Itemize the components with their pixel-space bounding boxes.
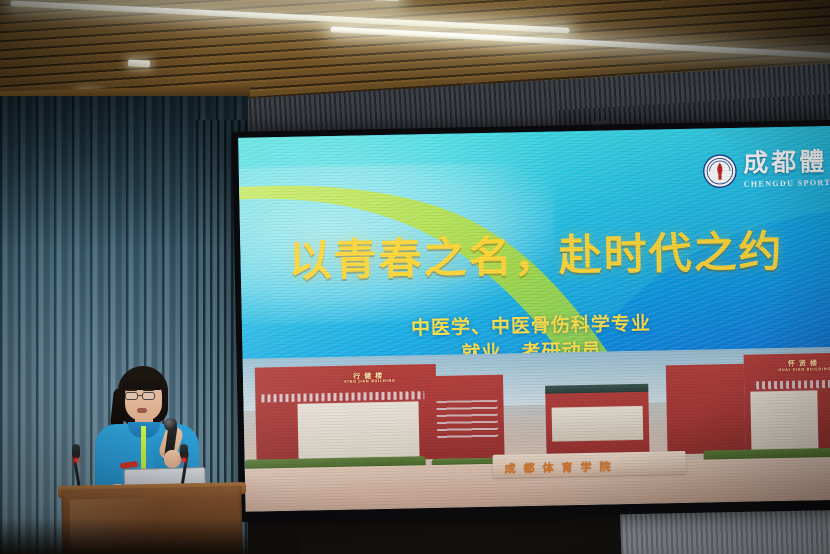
presenter-fringe (123, 374, 164, 390)
stone-sign-text: 成都体育学院 (504, 458, 618, 476)
gooseneck-mic-capsule-right (180, 444, 188, 459)
gooseneck-mic-capsule-left (72, 444, 80, 459)
building-right-windows (757, 380, 830, 389)
university-seal-icon (702, 153, 737, 188)
microphone-head (164, 418, 177, 431)
ceiling-downlight (128, 59, 150, 67)
eyeglasses-lens-left (125, 392, 138, 400)
building-right-label: 怀贤楼 HUAI XIAN BUILDING (762, 360, 830, 373)
building-center-facade (552, 406, 643, 442)
building-mid-right (666, 364, 746, 454)
led-display-screen: 成都體 CHENGDU SPORT 以青春之名，赴时代之约 中医学、中医骨伤科学… (232, 120, 830, 522)
presenter-hand-holding-mic (164, 450, 181, 468)
slide-title: 以青春之名，赴时代之约 (288, 228, 830, 284)
presentation-slide: 成都體 CHENGDU SPORT 以青春之名，赴时代之约 中医学、中医骨伤科学… (238, 126, 830, 512)
eyeglasses-lens-right (142, 392, 155, 400)
mic-status-led-right (182, 458, 186, 462)
conference-hall-photo: 成都體 CHENGDU SPORT 以青春之名，赴时代之约 中医学、中医骨伤科学… (0, 0, 830, 554)
building-mid-left-windows (437, 399, 498, 440)
mic-status-led-left (74, 458, 78, 462)
logo-name-en: CHENGDU SPORT (744, 178, 830, 189)
logo-name-zh: 成都體 (743, 150, 830, 177)
presenter-mouth (137, 408, 147, 413)
presenter-eyebrow-left (126, 389, 137, 391)
building-left-label: 行健楼 XING JIAN BUILDING (315, 372, 424, 385)
presenter-eyebrow-right (143, 389, 154, 391)
eyeglasses-bridge (138, 395, 143, 396)
campus-photo: 行健楼 XING JIAN BUILDING 怀贤楼 HUAI XIAN BUI… (243, 346, 830, 511)
university-logo: 成都體 CHENGDU SPORT (702, 150, 830, 190)
foreground-shadow (0, 518, 300, 554)
